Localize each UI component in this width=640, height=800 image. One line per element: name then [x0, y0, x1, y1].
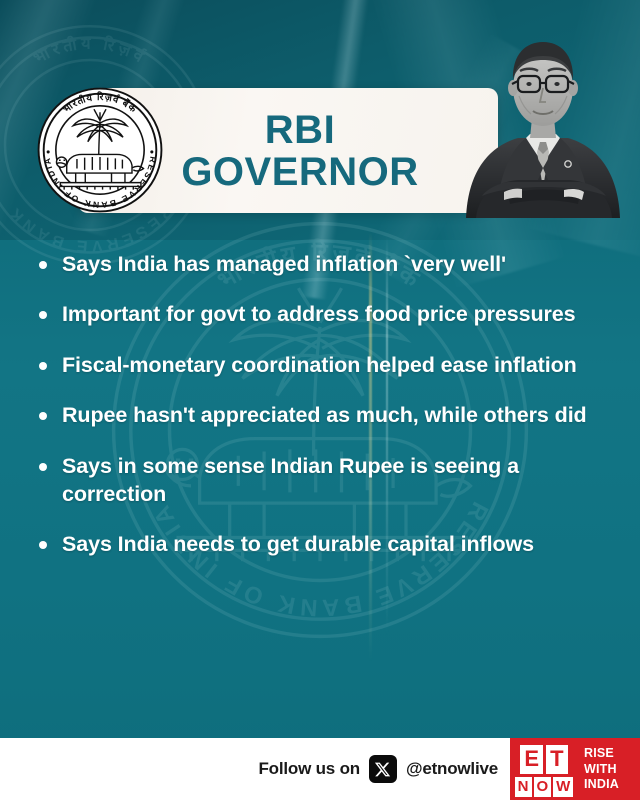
- bullet-dot-icon: [39, 261, 47, 269]
- rbi-seal-logo-icon: भारतीय रिज़र्व बैंक RESERVE BANK OF INDI…: [36, 86, 164, 214]
- bullet-text: Says in some sense Indian Rupee is seein…: [62, 452, 610, 509]
- footer-bar: Follow us on @etnowlive E T N O W: [0, 738, 640, 800]
- etnow-logo-mark: E T N O W ET NOW.IN: [510, 738, 578, 800]
- bullet-dot-icon: [39, 463, 47, 471]
- etnow-et-row: E T: [520, 745, 567, 774]
- infographic-card: भारतीय रिज़र्व बैंक RESERVE BANK OF INDI…: [0, 0, 640, 800]
- x-twitter-icon[interactable]: [369, 755, 397, 783]
- list-item: Important for govt to address food price…: [34, 300, 624, 328]
- tagline-line-2: WITH: [584, 762, 617, 776]
- list-item: Says India needs to get durable capital …: [34, 530, 624, 558]
- etnow-tagline: RISE WITH INDIA: [578, 738, 640, 800]
- list-item: Fiscal-monetary coordination helped ease…: [34, 351, 624, 379]
- etnow-letter-e: E: [520, 745, 543, 774]
- tagline-line-3: INDIA: [584, 777, 619, 791]
- etnow-now-row: N O W: [515, 777, 574, 797]
- follow-us-group: Follow us on @etnowlive: [258, 755, 498, 783]
- page-title: RBI GOVERNOR: [150, 92, 450, 210]
- bullet-text: Rupee hasn't appreciated as much, while …: [62, 401, 587, 429]
- bullet-text: Fiscal-monetary coordination helped ease…: [62, 351, 577, 379]
- tagline-line-1: RISE: [584, 746, 614, 760]
- social-handle[interactable]: @etnowlive: [406, 759, 498, 779]
- bullet-dot-icon: [39, 311, 47, 319]
- governor-portrait: [452, 18, 634, 218]
- title-line-1: RBI: [265, 110, 335, 150]
- etnow-letter-t: T: [546, 745, 567, 774]
- etnow-letter-w: W: [553, 777, 573, 797]
- bullet-text: Says India has managed inflation `very w…: [62, 250, 506, 278]
- bullet-dot-icon: [39, 541, 47, 549]
- etnow-logo[interactable]: E T N O W ET NOW.IN RISE WITH INDIA: [510, 738, 640, 800]
- bullet-text: Says India needs to get durable capital …: [62, 530, 534, 558]
- bullet-list: Says India has managed inflation `very w…: [34, 250, 624, 559]
- list-item: Rupee hasn't appreciated as much, while …: [34, 401, 624, 429]
- bullet-dot-icon: [39, 362, 47, 370]
- list-item: Says in some sense Indian Rupee is seein…: [34, 452, 624, 509]
- etnow-letter-o: O: [534, 777, 552, 797]
- etnow-letter-n: N: [515, 777, 532, 797]
- list-item: Says India has managed inflation `very w…: [34, 250, 624, 278]
- bullet-text: Important for govt to address food price…: [62, 300, 575, 328]
- title-line-2: GOVERNOR: [181, 152, 418, 192]
- bullet-dot-icon: [39, 412, 47, 420]
- follow-label: Follow us on: [258, 759, 359, 779]
